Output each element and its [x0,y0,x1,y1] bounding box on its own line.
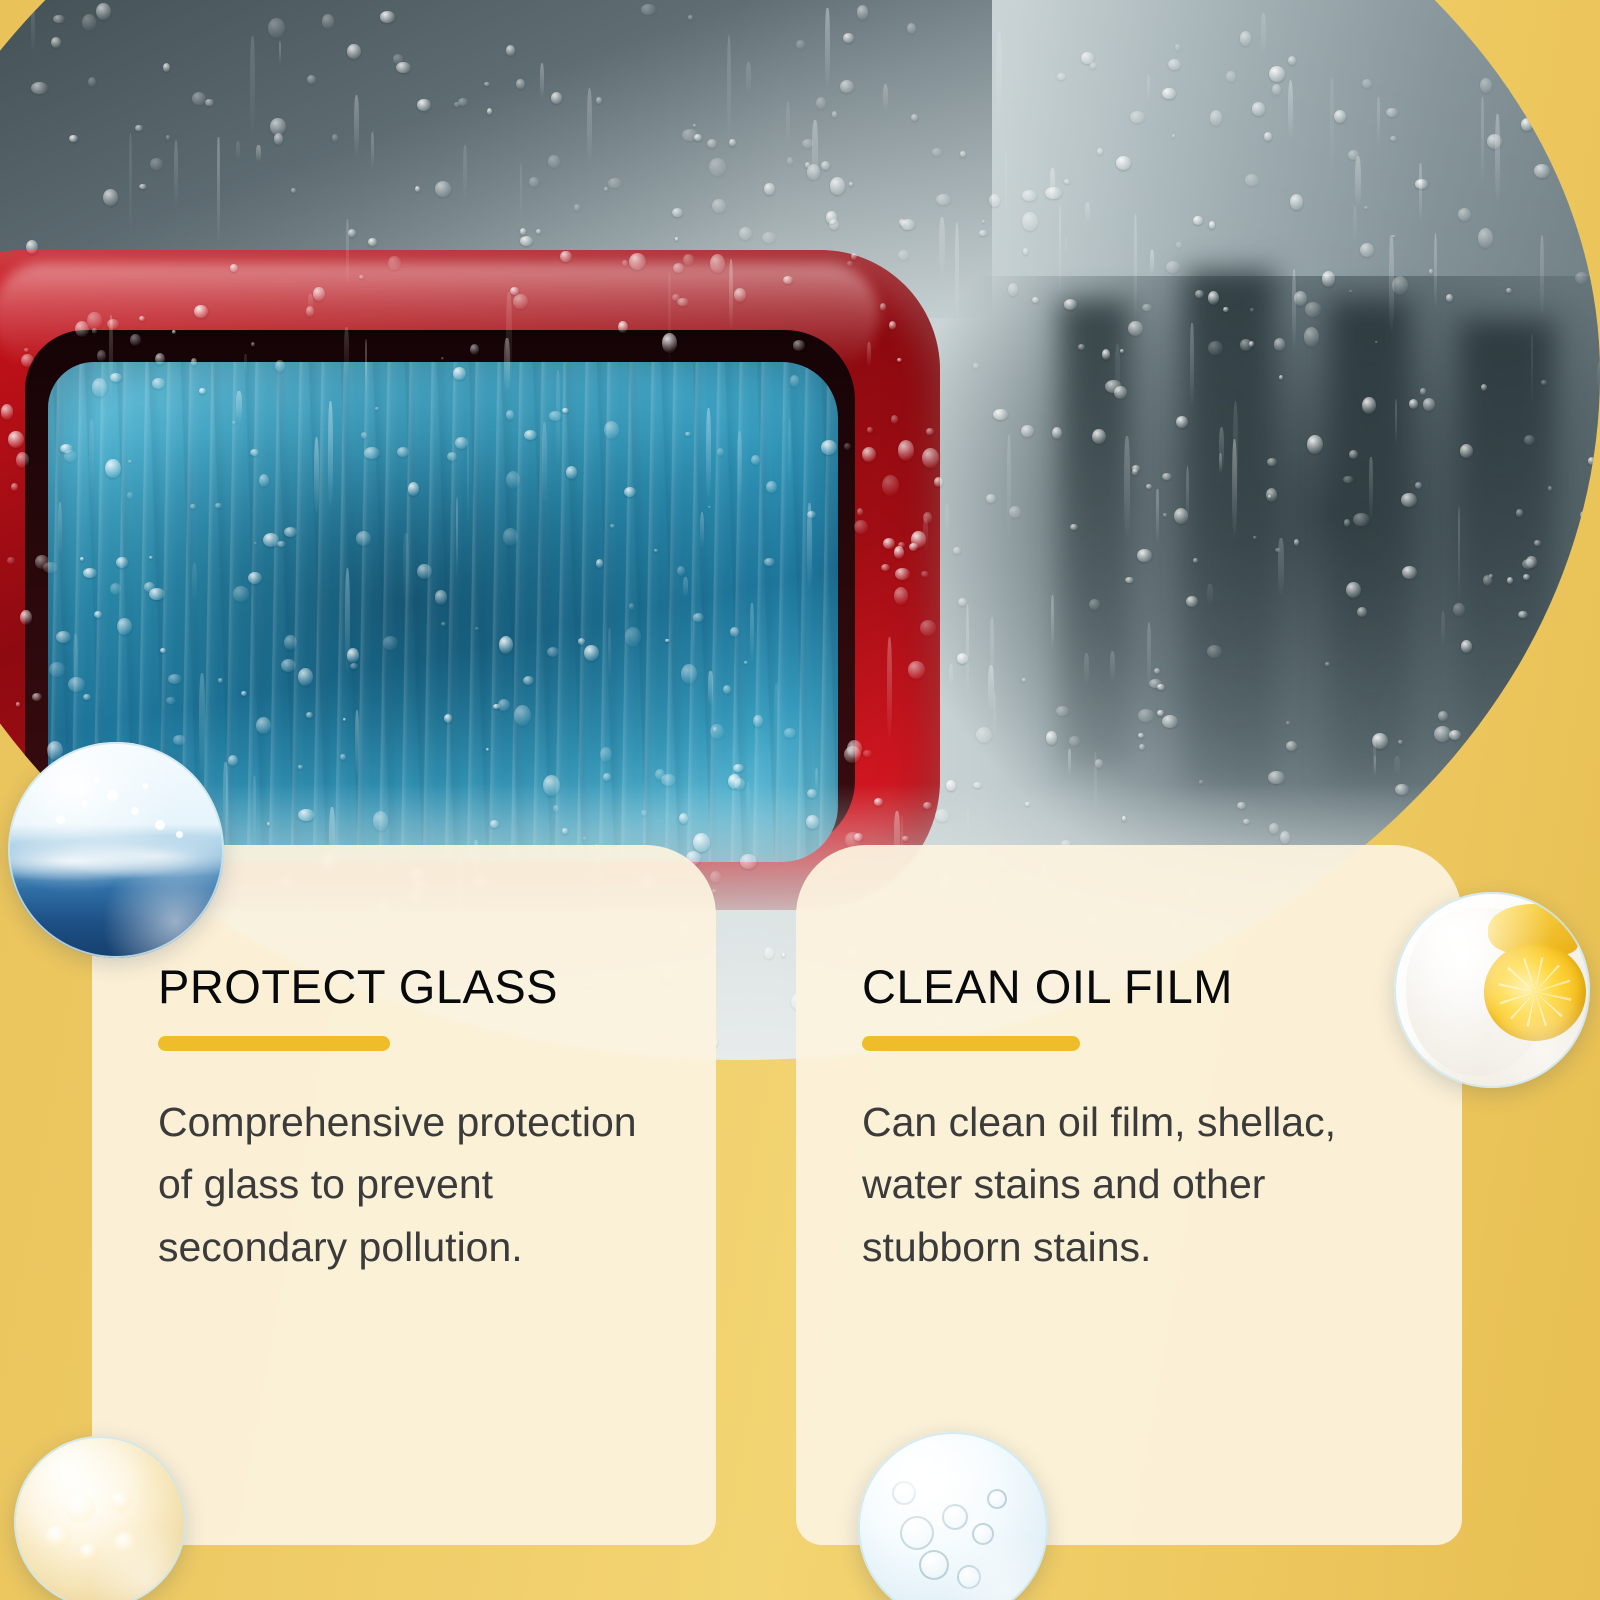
accent-bar [862,1036,1080,1051]
amber-liquid-bubble-icon [14,1436,186,1600]
card-title: PROTECT GLASS [158,963,676,1010]
lemon-salt-bubble-icon [1394,892,1590,1088]
clear-gel-bubble-icon [858,1432,1048,1600]
blurred-pillar-2 [1185,270,1275,790]
blurred-pillar-4 [1460,320,1555,770]
card-title: CLEAN OIL FILM [862,963,1422,1010]
water-splash-bubble-icon [8,742,224,958]
product-feature-poster: PROTECT GLASS Comprehensive protection o… [0,0,1600,1600]
blurred-pillar-1 [1060,300,1130,770]
blurred-pillar-3 [1330,300,1410,780]
card-description: Comprehensive protection of glass to pre… [158,1091,676,1278]
accent-bar [158,1036,390,1051]
card-description: Can clean oil film, shellac, water stain… [862,1091,1422,1278]
